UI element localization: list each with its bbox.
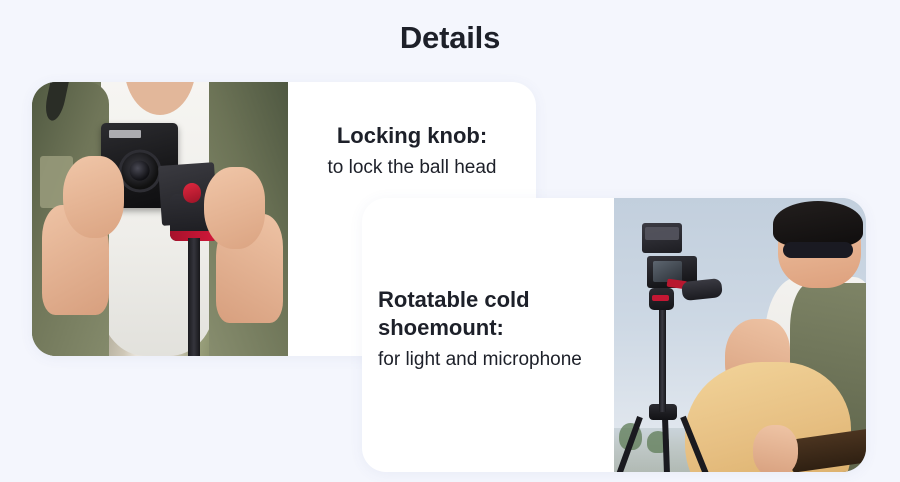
shoemount-subtext: for light and microphone <box>378 348 582 373</box>
photo-sunglasses <box>783 242 854 258</box>
shoemount-heading: Rotatable cold shoemount: <box>378 286 614 342</box>
detail-card-rotatable-cold-shoemount: Rotatable cold shoemount: for light and … <box>362 198 866 472</box>
photo-camera-brand <box>109 130 141 138</box>
photo-locking-knob <box>183 183 201 202</box>
photo-camera-lens <box>118 149 161 192</box>
photo-camera-lens-inner <box>130 161 150 181</box>
photo-tripod-pole <box>188 238 200 356</box>
shoemount-text-block: Rotatable cold shoemount: for light and … <box>362 198 614 472</box>
locking-knob-heading: Locking knob: <box>337 122 487 150</box>
photo-strumming-hand <box>753 425 798 472</box>
photo-led-light <box>642 223 682 253</box>
photo-hand-right <box>204 167 265 249</box>
page-title: Details <box>0 20 900 56</box>
photo-musician-hair <box>773 201 864 248</box>
photo-ball-head <box>649 288 674 310</box>
locking-knob-photo <box>32 82 288 356</box>
photo-hand-left <box>63 156 124 238</box>
photo-tripod-pole <box>659 297 666 412</box>
shoemount-photo <box>614 198 866 472</box>
locking-knob-subtext: to lock the ball head <box>327 156 496 181</box>
